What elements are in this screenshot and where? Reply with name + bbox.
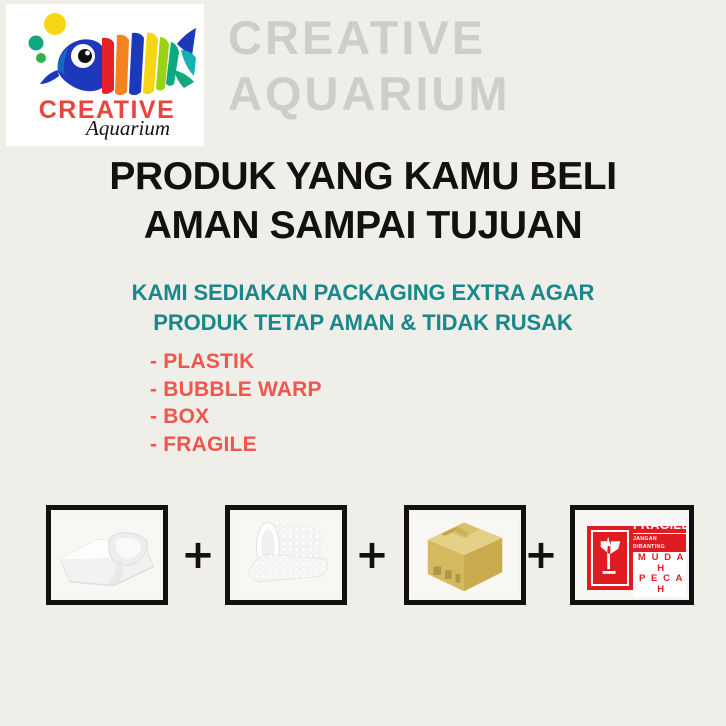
fragile-title: FRAGILE <box>633 519 686 534</box>
headline-line-2: AMAN SAMPAI TUJUAN <box>0 201 726 250</box>
bubble-wrap-roll-photo <box>233 513 339 597</box>
cardboard-box-photo <box>412 513 518 597</box>
brand-logo-card: CREATIVE Aquarium <box>6 4 204 146</box>
list-item: - FRAGILE <box>150 431 322 459</box>
packaging-strip: + + <box>0 505 726 609</box>
fragile-sticker-text: FRAGILE JANGAN DIBANTING M U D A H P E C… <box>633 530 686 586</box>
fragile-sticker: FRAGILE JANGAN DIBANTING M U D A H P E C… <box>587 526 686 590</box>
packaging-item-bubble-wrap <box>225 505 347 605</box>
subheadline-line-1: KAMI SEDIAKAN PACKAGING EXTRA AGAR <box>0 278 726 308</box>
logo-word-aquarium: Aquarium <box>58 116 198 141</box>
subheadline-line-2: PRODUK TETAP AMAN & TIDAK RUSAK <box>0 308 726 338</box>
plus-icon: + <box>355 538 389 572</box>
broken-glass-icon <box>591 530 629 586</box>
rainbow-fish-icon <box>14 8 196 100</box>
packaging-list: - PLASTIK - BUBBLE WARP - BOX - FRAGILE <box>150 348 322 458</box>
list-item: - PLASTIK <box>150 348 322 376</box>
fragile-sticker-photo: FRAGILE JANGAN DIBANTING M U D A H P E C… <box>578 513 686 597</box>
fragile-callout-line-2: P E C A H <box>633 574 686 595</box>
list-item: - BUBBLE WARP <box>150 376 322 404</box>
fragile-callout-line-1: M U D A H <box>633 553 686 574</box>
headline-line-1: PRODUK YANG KAMU BELI <box>0 152 726 201</box>
watermark-line-1: CREATIVE <box>228 11 486 64</box>
packaging-item-box <box>404 505 526 605</box>
plus-icon: + <box>181 538 215 572</box>
fragile-subtitle: JANGAN DIBANTING <box>633 534 686 551</box>
packaging-item-fragile: FRAGILE JANGAN DIBANTING M U D A H P E C… <box>570 505 694 605</box>
plastic-wrap-photo <box>54 513 160 597</box>
fragile-callout: M U D A H P E C A H <box>633 552 686 597</box>
plus-icon: + <box>524 538 558 572</box>
watermark-line-2: AQUARIUM <box>228 66 718 122</box>
headline: PRODUK YANG KAMU BELI AMAN SAMPAI TUJUAN <box>0 152 726 250</box>
subheadline: KAMI SEDIAKAN PACKAGING EXTRA AGAR PRODU… <box>0 278 726 338</box>
poster-canvas: CREATIVE AQUARIUM <box>0 0 726 726</box>
brand-watermark: CREATIVE AQUARIUM <box>228 10 718 122</box>
packaging-item-plastic <box>46 505 168 605</box>
list-item: - BOX <box>150 403 322 431</box>
